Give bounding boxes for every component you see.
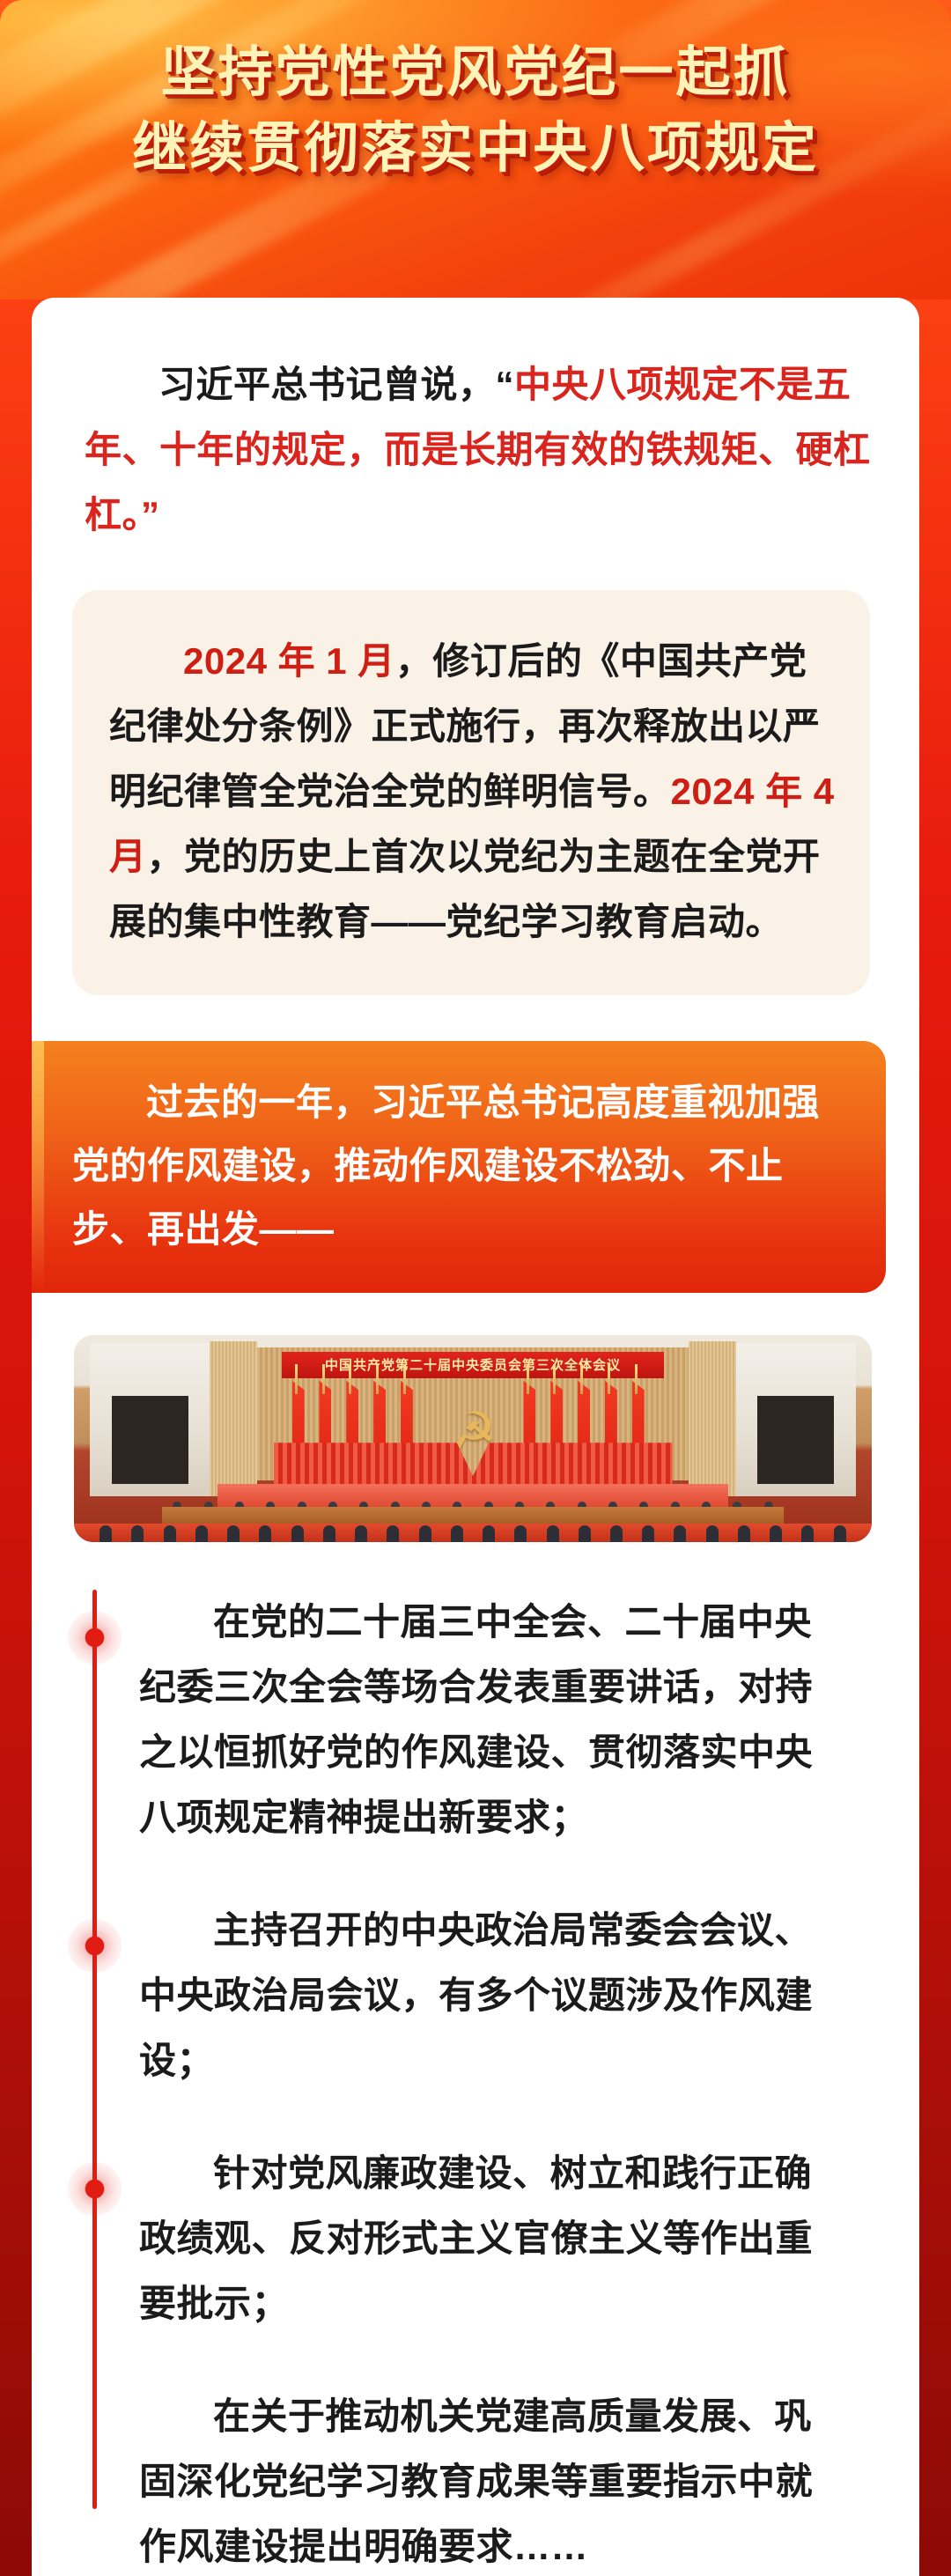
timeline-dot-icon (68, 1611, 122, 1664)
orange-highlight-band: 过去的一年，习近平总书记高度重视加强党的作风建设，推动作风建设不松劲、不止步、再… (32, 1041, 886, 1293)
list-item: 在关于推动机关党建高质量发展、巩固深化党纪学习教育成果等重要指示中就作风建设提出… (32, 2384, 872, 2576)
intro-lead: 习近平总书记曾说，“ (158, 364, 514, 405)
flag-pole-icon (376, 1364, 379, 1394)
intro-close-quote: ” (141, 494, 160, 535)
conference-photo: 中国共产党第二十届中央委员会第三次全体会议 (74, 1335, 872, 1542)
title-line-1: 坚持党性党风党纪一起抓 (0, 35, 951, 111)
content-panel: 习近平总书记曾说，“中央八项规定不是五年、十年的规定，而是长期有效的铁规矩、硬杠… (32, 298, 919, 2576)
flag-pole-icon (403, 1364, 406, 1394)
intro-paragraph: 习近平总书记曾说，“中央八项规定不是五年、十年的规定，而是长期有效的铁规矩、硬杠… (85, 352, 874, 548)
orange-band-text: 过去的一年，习近平总书记高度重视加强党的作风建设，推动作风建设不松劲、不止步、再… (72, 1071, 840, 1261)
header-banner: 坚持党性党风党纪一起抓 继续贯彻落实中央八项规定 (0, 0, 951, 299)
beige-callout-box: 2024 年 1 月，修订后的《中国共产党纪律处分条例》正式施行，再次释放出以严… (72, 590, 870, 995)
beige-text-2: ，党的历史上首次以党纪为主题在全党开展的集中性教育——党纪学习教育启动。 (109, 836, 821, 942)
title-line-2: 继续贯彻落实中央八项规定 (0, 111, 951, 187)
flag-pole-icon (608, 1364, 610, 1394)
hall-banner-text: 中国共产党第二十届中央委员会第三次全体会议 (325, 1355, 621, 1374)
list-item: 在党的二十届三中全会、二十届中央纪委三次全会等场合发表重要讲话，对持之以恒抓好党… (32, 1590, 872, 1850)
flag-pole-icon (349, 1364, 351, 1394)
list-item: 针对党风廉政建设、树立和践行正确政绩观、反对形式主义官僚主义等作出重要批示； (32, 2141, 872, 2336)
audience-row (90, 1522, 856, 1543)
beige-paragraph: 2024 年 1 月，修订后的《中国共产党纪律处分条例》正式施行，再次释放出以严… (109, 629, 835, 955)
flag-pole-icon (295, 1364, 298, 1394)
beige-date-1: 2024 年 1 月 (183, 640, 395, 682)
flag-pole-icon (322, 1364, 325, 1394)
list-item-text: 针对党风廉政建设、树立和践行正确政绩观、反对形式主义官僚主义等作出重要批示； (139, 2141, 833, 2336)
hall-wall-right (736, 1343, 856, 1496)
flag-pole-icon (553, 1364, 556, 1394)
page-title: 坚持党性党风党纪一起抓 继续贯彻落实中央八项规定 (0, 35, 951, 187)
flag-pole-icon (527, 1364, 529, 1394)
poster-root: 坚持党性党风党纪一起抓 继续贯彻落实中央八项规定 习近平总书记曾说，“中央八项规… (0, 0, 951, 2576)
list-item-text: 在关于推动机关党建高质量发展、巩固深化党纪学习教育成果等重要指示中就作风建设提出… (139, 2384, 833, 2576)
timeline-dot-icon (68, 1919, 122, 1973)
photo-scene: 中国共产党第二十届中央委员会第三次全体会议 (74, 1335, 872, 1542)
hall-wall-left (90, 1343, 210, 1496)
hall-column-left (210, 1341, 257, 1496)
flag-pole-icon (635, 1364, 638, 1394)
timeline-list: 在党的二十届三中全会、二十届中央纪委三次全会等场合发表重要讲话，对持之以恒抓好党… (32, 1590, 872, 2576)
hall-column-right (689, 1341, 736, 1496)
list-item: 主持召开的中央政治局常委会会议、中央政治局会议，有多个议题涉及作风建设； (32, 1898, 872, 2093)
list-item-text: 在党的二十届三中全会、二十届中央纪委三次全会等场合发表重要讲话，对持之以恒抓好党… (139, 1590, 833, 1850)
timeline-dot-icon (68, 2162, 122, 2216)
list-item-text: 主持召开的中央政治局常委会会议、中央政治局会议，有多个议题涉及作风建设； (139, 1898, 833, 2093)
flag-pole-icon (580, 1364, 583, 1394)
